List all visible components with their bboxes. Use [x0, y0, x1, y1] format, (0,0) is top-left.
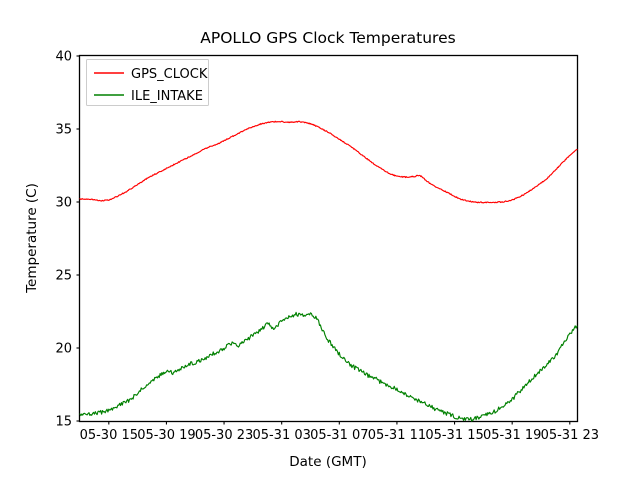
chart-figure: APOLLO GPS Clock Temperatures 1520253035…	[0, 0, 640, 480]
y-axis-title: Temperature (C)	[24, 183, 40, 294]
x-tick-label: 05-31 15	[425, 428, 483, 443]
chart-legend: GPS_CLOCK ILE_INTAKE	[87, 60, 209, 106]
y-tick-label: 30	[55, 196, 72, 211]
legend-label-ile-intake: ILE_INTAKE	[131, 89, 203, 104]
y-tick-label: 35	[55, 123, 72, 138]
y-tick-label: 15	[55, 415, 72, 430]
y-tick-label: 25	[55, 269, 72, 284]
y-tick-label: 20	[55, 342, 72, 357]
x-tick-label: 05-30 23	[195, 428, 253, 443]
x-tick-label: 05-31 23	[541, 428, 599, 443]
chart-title: APOLLO GPS Clock Temperatures	[200, 29, 455, 47]
x-axis-title: Date (GMT)	[289, 454, 366, 470]
legend-label-gps-clock: GPS_CLOCK	[131, 67, 208, 82]
x-tick-label: 05-31 03	[252, 428, 310, 443]
x-tick-label: 05-31 11	[368, 428, 426, 443]
x-tick-label: 05-30 19	[137, 428, 195, 443]
y-tick-label: 40	[55, 50, 72, 65]
x-tick-label: 05-30 15	[80, 428, 138, 443]
x-tick-label: 05-31 19	[483, 428, 541, 443]
x-tick-label: 05-31 07	[310, 428, 368, 443]
temperature-line-chart: APOLLO GPS Clock Temperatures 1520253035…	[0, 0, 640, 480]
